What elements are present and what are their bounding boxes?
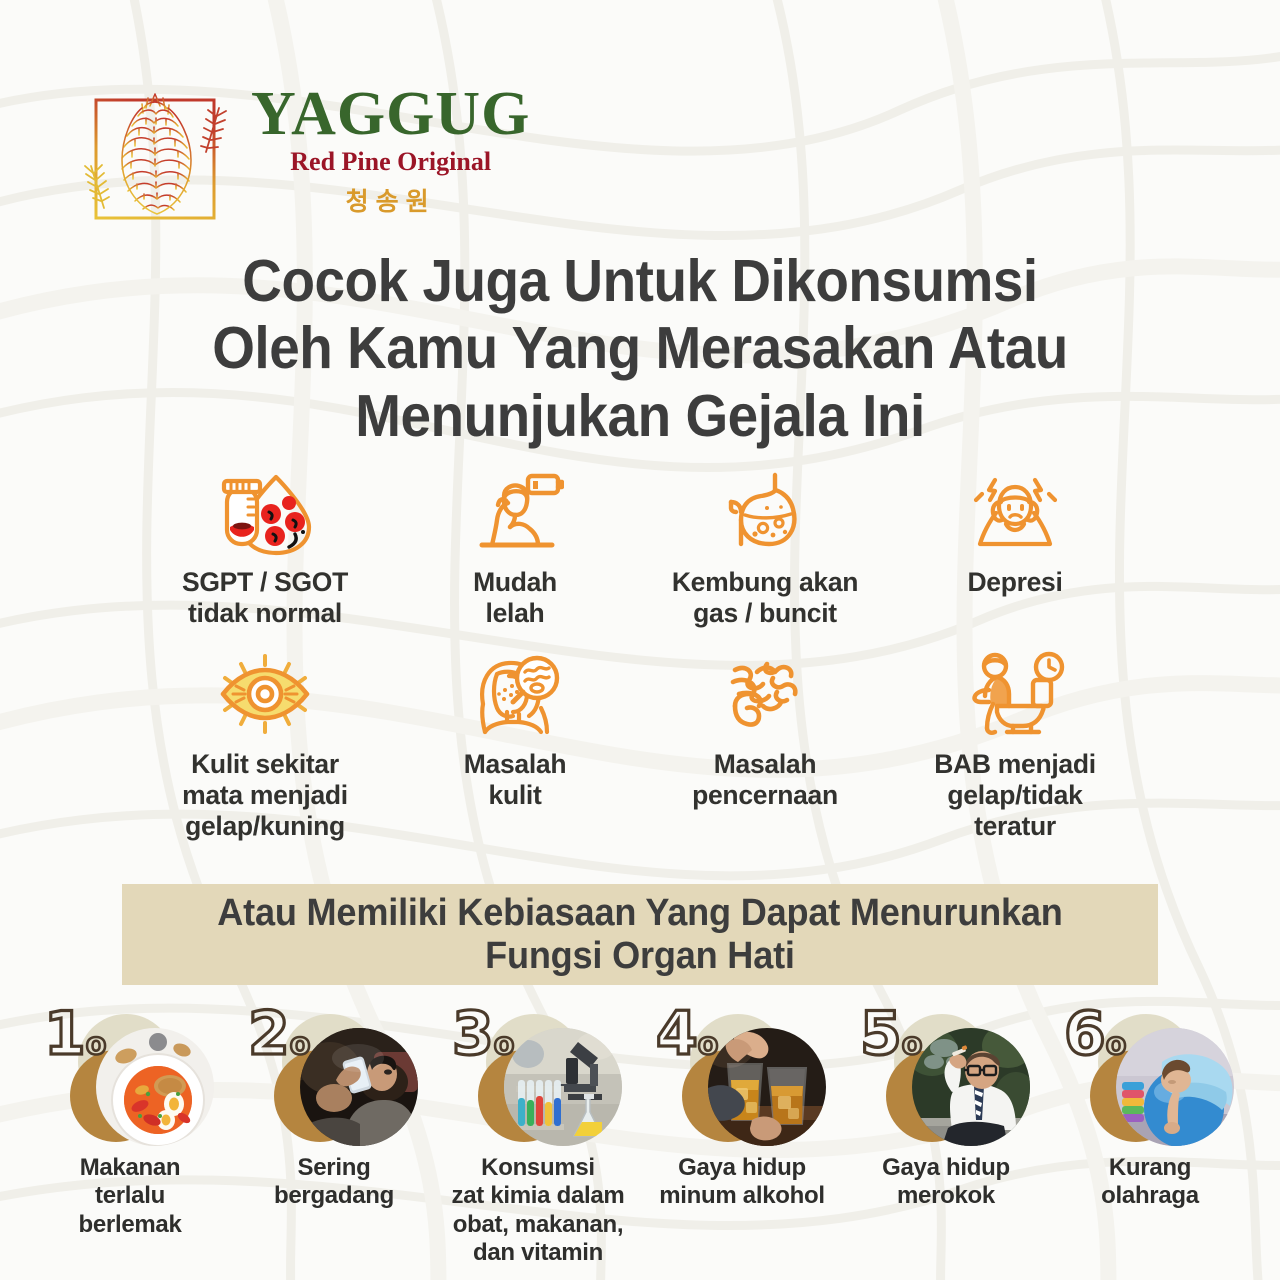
habit-number-value: 6 bbox=[1064, 999, 1106, 1069]
habit-visual: 1o bbox=[40, 1008, 220, 1148]
habit-label: Konsumsi zat kimia dalam obat, makanan, … bbox=[452, 1154, 625, 1267]
symptom-label: SGPT / SGOT tidak normal bbox=[182, 567, 348, 630]
habit-label: Gaya hidup merokok bbox=[882, 1154, 1010, 1211]
symptom-label-line-3: teratur bbox=[974, 811, 1056, 841]
person-resting-exercise-ball-photo bbox=[1116, 1028, 1234, 1146]
bloated-stomach-icon bbox=[717, 468, 813, 556]
symptom-label-line-2: lelah bbox=[486, 598, 545, 628]
intestine-icon bbox=[719, 650, 811, 738]
symptom-row-2: Kulit sekitar mata menjadi gelap/kuning bbox=[150, 650, 1130, 843]
symptom-grid: SGPT / SGOT tidak normal bbox=[150, 468, 1130, 842]
pine-cone-icon bbox=[80, 78, 235, 233]
symptom-label: BAB menjadi gelap/tidak teratur bbox=[934, 749, 1096, 843]
symptom-label-line-3: gelap/kuning bbox=[185, 811, 345, 841]
brand-logo: YAGGUG Red Pine Original 청송원 bbox=[80, 78, 600, 238]
symptom-label-line-1: Masalah bbox=[464, 749, 566, 779]
symptom-item-kembung: Kembung akan gas / buncit bbox=[650, 468, 880, 630]
blood-test-tube-icon bbox=[213, 468, 317, 556]
symptom-label-line-2: mata menjadi bbox=[182, 780, 348, 810]
habit-number: 6o bbox=[1064, 1004, 1126, 1064]
brand-korean-name: 청송원 bbox=[346, 182, 436, 218]
person-on-phone-at-night-photo bbox=[300, 1028, 418, 1146]
symptom-label: Mudah lelah bbox=[473, 567, 557, 630]
symptom-label-line-1: Masalah bbox=[714, 749, 816, 779]
habit-label-line-3: berlemak bbox=[79, 1211, 182, 1238]
habit-label-line-2: zat kimia dalam bbox=[452, 1182, 625, 1209]
jaundiced-eye-icon bbox=[211, 650, 319, 738]
habit-visual: 3o bbox=[448, 1008, 628, 1148]
banner-line-1: Atau Memiliki Kebiasaan Yang Dapat Menur… bbox=[217, 892, 1062, 935]
habit-number-dot: o bbox=[290, 1027, 311, 1062]
fatty-food-plate-photo bbox=[96, 1028, 214, 1146]
stressed-head-icon bbox=[965, 468, 1065, 556]
symptom-item-depresi: Depresi bbox=[900, 468, 1130, 598]
brand-name: YAGGUG bbox=[251, 84, 530, 145]
habit-number-value: 3 bbox=[452, 999, 494, 1069]
symptom-item-mudah-lelah: Mudah lelah bbox=[400, 468, 630, 630]
habit-label-line-2: minum alkohol bbox=[659, 1182, 824, 1209]
symptom-label: Masalah pencernaan bbox=[692, 749, 838, 812]
habit-label-line-2: terlalu bbox=[95, 1182, 165, 1209]
alcohol-glasses-photo bbox=[708, 1028, 826, 1146]
symptom-label: Kembung akan gas / buncit bbox=[672, 567, 858, 630]
habit-number: 5o bbox=[860, 1004, 922, 1064]
habits-banner: Atau Memiliki Kebiasaan Yang Dapat Menur… bbox=[122, 884, 1158, 985]
habit-label-line-2: olahraga bbox=[1101, 1182, 1199, 1209]
symptom-label: Depresi bbox=[967, 567, 1062, 598]
symptom-label-line-1: BAB menjadi bbox=[934, 749, 1096, 779]
headline-line-2: Oleh Kamu Yang Merasakan Atau bbox=[45, 315, 1235, 382]
habit-label-line-2: merokok bbox=[897, 1182, 995, 1209]
symptom-label-line-2: kulit bbox=[489, 780, 542, 810]
symptom-label: Masalah kulit bbox=[464, 749, 566, 812]
habits-banner-text: Atau Memiliki Kebiasaan Yang Dapat Menur… bbox=[217, 892, 1062, 977]
headline-line-3: Menunjukan Gejala Ini bbox=[45, 383, 1235, 450]
toilet-clock-icon bbox=[963, 650, 1067, 738]
habit-number: 3o bbox=[452, 1004, 514, 1064]
habit-label: Makanan terlalu berlemak bbox=[79, 1154, 182, 1239]
habit-number: 4o bbox=[656, 1004, 718, 1064]
symptom-label-line-1: Kulit sekitar bbox=[191, 749, 339, 779]
symptom-label-line-1: SGPT / SGOT bbox=[182, 567, 348, 597]
habit-label-line-1: Gaya hidup bbox=[882, 1154, 1010, 1181]
brand-tagline: Red Pine Original bbox=[290, 146, 491, 179]
habit-number-dot: o bbox=[494, 1027, 515, 1062]
habit-number-value: 4 bbox=[656, 999, 698, 1069]
symptom-label-line-1: Depresi bbox=[967, 567, 1062, 597]
habit-number: 2o bbox=[248, 1004, 310, 1064]
habit-visual: 6o bbox=[1060, 1008, 1240, 1148]
laboratory-chemicals-photo bbox=[504, 1028, 622, 1146]
habit-visual: 5o bbox=[856, 1008, 1036, 1148]
symptom-label-line-1: Mudah bbox=[473, 567, 557, 597]
habit-item-zat-kimia: 3o Konsumsi zat kimia dalam obat, makana… bbox=[438, 1008, 638, 1267]
habit-label-line-4: dan vitamin bbox=[473, 1239, 603, 1266]
symptom-label-line-1: Kembung akan bbox=[672, 567, 858, 597]
symptom-item-sgpt-sgot: SGPT / SGOT tidak normal bbox=[150, 468, 380, 630]
habit-number-value: 2 bbox=[248, 999, 290, 1069]
habit-number-value: 5 bbox=[860, 999, 902, 1069]
habit-label: Sering bergadang bbox=[274, 1154, 394, 1211]
habit-visual: 2o bbox=[244, 1008, 424, 1148]
habit-label-line-1: Gaya hidup bbox=[678, 1154, 806, 1181]
habit-item-minum-alkohol: 4o Gaya hidup minum alkohol bbox=[642, 1008, 842, 1267]
page-headline: Cocok Juga Untuk Dikonsumsi Oleh Kamu Ya… bbox=[45, 248, 1235, 450]
habit-label: Kurang olahraga bbox=[1101, 1154, 1199, 1211]
habit-number-value: 1 bbox=[44, 999, 86, 1069]
symptom-item-masalah-pencernaan: Masalah pencernaan bbox=[650, 650, 880, 812]
habit-item-merokok: 5o Gaya hidup merokok bbox=[846, 1008, 1046, 1267]
symptom-label-line-2: gelap/tidak bbox=[947, 780, 1082, 810]
habit-label-line-1: Makanan bbox=[80, 1154, 181, 1181]
symptom-item-bab: BAB menjadi gelap/tidak teratur bbox=[900, 650, 1130, 843]
symptom-item-kulit-sekitar-mata: Kulit sekitar mata menjadi gelap/kuning bbox=[150, 650, 380, 843]
habit-label: Gaya hidup minum alkohol bbox=[659, 1154, 824, 1211]
habit-label-line-1: Kurang bbox=[1109, 1154, 1191, 1181]
habit-label-line-1: Sering bbox=[298, 1154, 371, 1181]
man-smoking-photo bbox=[912, 1028, 1030, 1146]
tired-person-battery-icon bbox=[466, 468, 564, 556]
symptom-label-line-2: tidak normal bbox=[188, 598, 342, 628]
habit-item-makanan-berlemak: 1o Makanan terlalu berlemak bbox=[30, 1008, 230, 1267]
banner-line-2: Fungsi Organ Hati bbox=[217, 935, 1062, 978]
habit-label-line-1: Konsumsi bbox=[481, 1154, 595, 1181]
symptom-row-1: SGPT / SGOT tidak normal bbox=[150, 468, 1130, 630]
symptom-label: Kulit sekitar mata menjadi gelap/kuning bbox=[182, 749, 348, 843]
habit-number-dot: o bbox=[86, 1027, 107, 1062]
habit-number: 1o bbox=[44, 1004, 106, 1064]
habit-item-kurang-olahraga: 6o Kurang olahraga bbox=[1050, 1008, 1250, 1267]
symptom-label-line-2: gas / buncit bbox=[693, 598, 837, 628]
skin-problem-face-icon bbox=[467, 650, 563, 738]
habit-number-dot: o bbox=[902, 1027, 923, 1062]
habit-label-line-3: obat, makanan, bbox=[453, 1211, 624, 1238]
habit-visual: 4o bbox=[652, 1008, 832, 1148]
symptom-item-masalah-kulit: Masalah kulit bbox=[400, 650, 630, 812]
habit-number-dot: o bbox=[1106, 1027, 1127, 1062]
habits-list: 1o Makanan terlalu berlemak bbox=[30, 1008, 1250, 1267]
habit-label-line-2: bergadang bbox=[274, 1182, 394, 1209]
habit-number-dot: o bbox=[698, 1027, 719, 1062]
symptom-label-line-2: pencernaan bbox=[692, 780, 838, 810]
habit-item-sering-bergadang: 2o Sering bergadang bbox=[234, 1008, 434, 1267]
headline-line-1: Cocok Juga Untuk Dikonsumsi bbox=[45, 248, 1235, 315]
